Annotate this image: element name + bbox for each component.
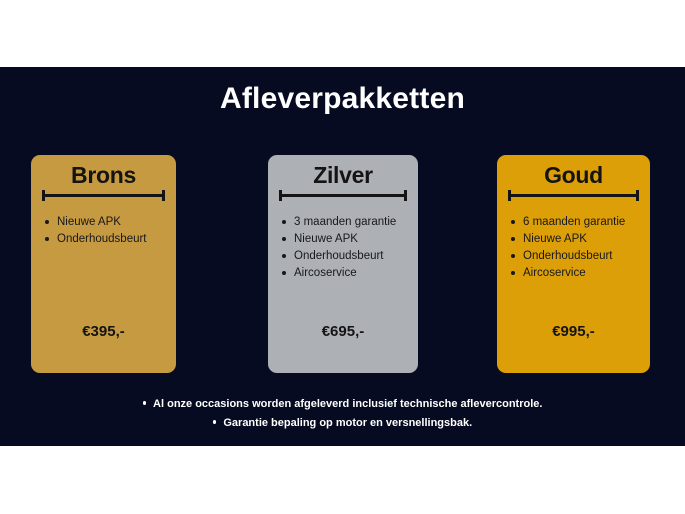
package-card-goud[interactable]: Goud 6 maanden garantie Nieuwe APK Onder… — [497, 155, 650, 373]
list-item: Onderhoudsbeurt — [45, 231, 170, 248]
feature-list-zilver: 3 maanden garantie Nieuwe APK Onderhouds… — [268, 214, 418, 282]
feature-label: Nieuwe APK — [294, 233, 358, 245]
package-price-zilver: €695,- — [268, 323, 418, 340]
package-card-brons[interactable]: Brons Nieuwe APK Onderhoudsbeurt €395,- — [31, 155, 176, 373]
rule-bar — [508, 194, 639, 197]
bullet-icon — [143, 401, 147, 405]
footer-note-label: Al onze occasions worden afgeleverd incl… — [153, 398, 542, 410]
feature-label: Nieuwe APK — [57, 216, 121, 228]
feature-list-brons: Nieuwe APK Onderhoudsbeurt — [31, 214, 176, 248]
feature-label: Onderhoudsbeurt — [294, 250, 384, 262]
package-cards: Brons Nieuwe APK Onderhoudsbeurt €395,- — [0, 155, 685, 375]
list-item: 3 maanden garantie — [282, 214, 412, 231]
list-item: Nieuwe APK — [511, 231, 644, 248]
rule-bar — [279, 194, 407, 197]
bullet-icon — [511, 237, 515, 241]
bullet-icon — [45, 237, 49, 241]
bullet-icon — [282, 271, 286, 275]
bullet-icon — [282, 237, 286, 241]
bullet-icon — [282, 220, 286, 224]
rule-cap-right — [636, 190, 639, 201]
list-item: Aircoservice — [511, 265, 644, 282]
slide-root: Afleverpakketten Brons Nieuwe APK Onderh… — [0, 0, 685, 514]
feature-label: Nieuwe APK — [523, 233, 587, 245]
page-title: Afleverpakketten — [0, 82, 685, 116]
title-rule-icon — [42, 190, 165, 200]
bullet-icon — [45, 220, 49, 224]
feature-label: Onderhoudsbeurt — [57, 233, 147, 245]
feature-label: Onderhoudsbeurt — [523, 250, 613, 262]
list-item: Onderhoudsbeurt — [511, 248, 644, 265]
title-rule-icon — [279, 190, 407, 200]
list-item: 6 maanden garantie — [511, 214, 644, 231]
list-item: Aircoservice — [282, 265, 412, 282]
feature-list-goud: 6 maanden garantie Nieuwe APK Onderhouds… — [497, 214, 650, 282]
footer-notes: Al onze occasions worden afgeleverd incl… — [0, 395, 685, 433]
bullet-icon — [511, 220, 515, 224]
package-card-zilver[interactable]: Zilver 3 maanden garantie Nieuwe APK Ond… — [268, 155, 418, 373]
footer-note: Garantie bepaling op motor en versnellin… — [0, 414, 685, 433]
list-item: Onderhoudsbeurt — [282, 248, 412, 265]
title-rule-icon — [508, 190, 639, 200]
rule-bar — [42, 194, 165, 197]
footer-note: Al onze occasions worden afgeleverd incl… — [0, 395, 685, 414]
package-price-brons: €395,- — [31, 323, 176, 340]
feature-label: 3 maanden garantie — [294, 216, 396, 228]
package-title-goud: Goud — [497, 161, 650, 189]
package-title-zilver: Zilver — [268, 161, 418, 189]
rule-cap-right — [162, 190, 165, 201]
package-price-goud: €995,- — [497, 323, 650, 340]
feature-label: Aircoservice — [294, 267, 357, 279]
feature-label: 6 maanden garantie — [523, 216, 625, 228]
list-item: Nieuwe APK — [45, 214, 170, 231]
list-item: Nieuwe APK — [282, 231, 412, 248]
bullet-icon — [511, 271, 515, 275]
bullet-icon — [511, 254, 515, 258]
footer-note-label: Garantie bepaling op motor en versnellin… — [223, 417, 472, 429]
feature-label: Aircoservice — [523, 267, 586, 279]
package-title-brons: Brons — [31, 161, 176, 189]
bullet-icon — [213, 420, 217, 424]
bullet-icon — [282, 254, 286, 258]
rule-cap-right — [404, 190, 407, 201]
